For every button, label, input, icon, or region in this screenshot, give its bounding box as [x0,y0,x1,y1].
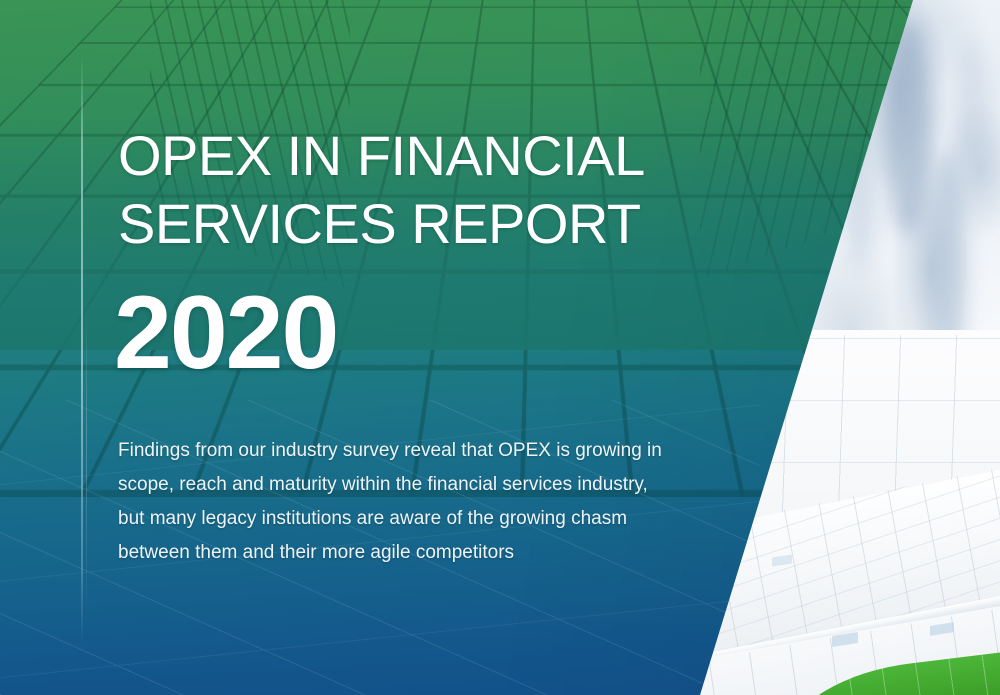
report-cover: OPEX IN FINANCIAL SERVICES REPORT 2020 F… [0,0,1000,695]
report-title: OPEX IN FINANCIAL SERVICES REPORT [118,122,778,258]
report-subtitle: Findings from our industry survey reveal… [118,434,718,570]
cloud-streak [955,40,989,160]
report-year: 2020 [114,277,337,389]
